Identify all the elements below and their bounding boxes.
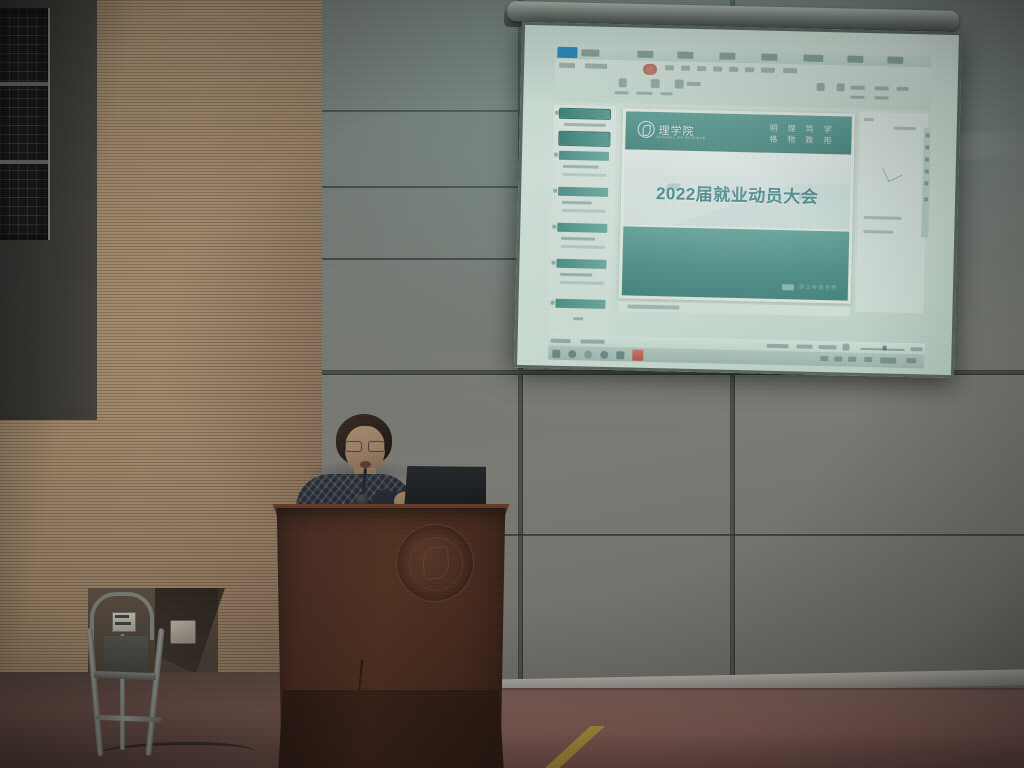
shapes-icon[interactable] (651, 79, 660, 88)
tab-view[interactable] (887, 56, 903, 63)
paste-icon[interactable] (619, 78, 627, 87)
outline-slide-4[interactable] (557, 223, 607, 233)
school-motto: 明 理 笃 学 格 物 致 用 (769, 123, 836, 147)
powerpoint-window: 理学院 SCHOOL OF SCIENCE 明 理 笃 学 格 物 致 用 20… (514, 22, 962, 378)
speaker-glasses (345, 441, 385, 450)
speaker-mouth (360, 461, 371, 468)
footer-chip-icon (782, 284, 794, 290)
tray-icon-3[interactable] (848, 357, 856, 362)
slide-footer-text: 浙江科技学院 (799, 283, 838, 291)
electrical-wall-plate (170, 620, 196, 644)
ribbon-highlight-icon[interactable] (643, 64, 657, 75)
chair-label-line-2 (115, 622, 131, 625)
mesh-window (0, 8, 50, 240)
outline-slide-2[interactable] (559, 151, 609, 161)
tray-icon-2[interactable] (834, 356, 842, 361)
slide-hero-area: 2022届就业动员大会 (623, 152, 851, 229)
powerpoint-icon[interactable] (632, 350, 643, 361)
clock[interactable] (880, 357, 896, 363)
slide-footer-band: 浙江科技学院 (622, 226, 850, 300)
find-icon[interactable] (817, 83, 825, 91)
tab-insert[interactable] (637, 51, 653, 58)
slide-title: 2022届就业动员大会 (624, 178, 851, 208)
outline-slide-3[interactable] (558, 187, 608, 197)
logo-english-name: SCHOOL OF SCIENCE (656, 135, 706, 140)
tray-icon-4[interactable] (864, 357, 872, 362)
status-slide-indicator (551, 339, 571, 343)
start-icon[interactable] (552, 349, 560, 357)
zoom-slider-knob[interactable] (882, 345, 886, 350)
slideshow-view-icon[interactable] (842, 344, 849, 351)
notifications-icon[interactable] (906, 358, 916, 363)
tab-file[interactable] (557, 47, 577, 58)
taskview-icon[interactable] (584, 350, 592, 358)
slide-header-band: 理学院 SCHOOL OF SCIENCE 明 理 笃 学 格 物 致 用 (625, 111, 852, 154)
tray-icon-1[interactable] (820, 356, 828, 361)
slide-canvas[interactable]: 理学院 SCHOOL OF SCIENCE 明 理 笃 学 格 物 致 用 20… (619, 108, 855, 303)
outline-slide-1[interactable] (560, 109, 610, 119)
tab-transitions[interactable] (719, 53, 735, 60)
slide-footer-mark: 浙江科技学院 (782, 283, 838, 291)
tab-animations[interactable] (761, 54, 777, 61)
browser-icon[interactable] (600, 350, 608, 358)
podium-base (276, 690, 506, 768)
tab-review[interactable] (847, 56, 863, 63)
search-icon[interactable] (568, 350, 576, 358)
outline-slide-6[interactable] (555, 299, 605, 309)
status-language (581, 339, 605, 344)
status-zoom-level (910, 347, 922, 351)
motto-line-2: 格 物 致 用 (769, 134, 835, 147)
school-crest-icon (637, 121, 654, 138)
tab-design[interactable] (677, 52, 693, 59)
tab-home[interactable] (581, 49, 599, 56)
replace-icon[interactable] (837, 83, 845, 91)
ppt-ribbon[interactable] (554, 59, 931, 111)
slide-outline-panel[interactable] (549, 105, 616, 336)
pane-pointer-icon (882, 162, 902, 182)
arrange-icon[interactable] (675, 79, 684, 88)
pane-tab-strip[interactable] (921, 127, 931, 237)
explorer-icon[interactable] (616, 351, 624, 359)
projection-screen: 理学院 SCHOOL OF SCIENCE 明 理 笃 学 格 物 致 用 20… (514, 22, 962, 378)
outline-slide-5[interactable] (556, 259, 606, 269)
chair-label-line-1 (115, 615, 129, 618)
outline-slide-1-thumb[interactable] (559, 132, 609, 146)
tab-slideshow[interactable] (803, 55, 823, 62)
task-pane[interactable] (855, 112, 928, 314)
laptop-screen (404, 466, 486, 510)
lecture-hall-photo: 理学院 SCHOOL OF SCIENCE 明 理 笃 学 格 物 致 用 20… (0, 0, 1024, 768)
